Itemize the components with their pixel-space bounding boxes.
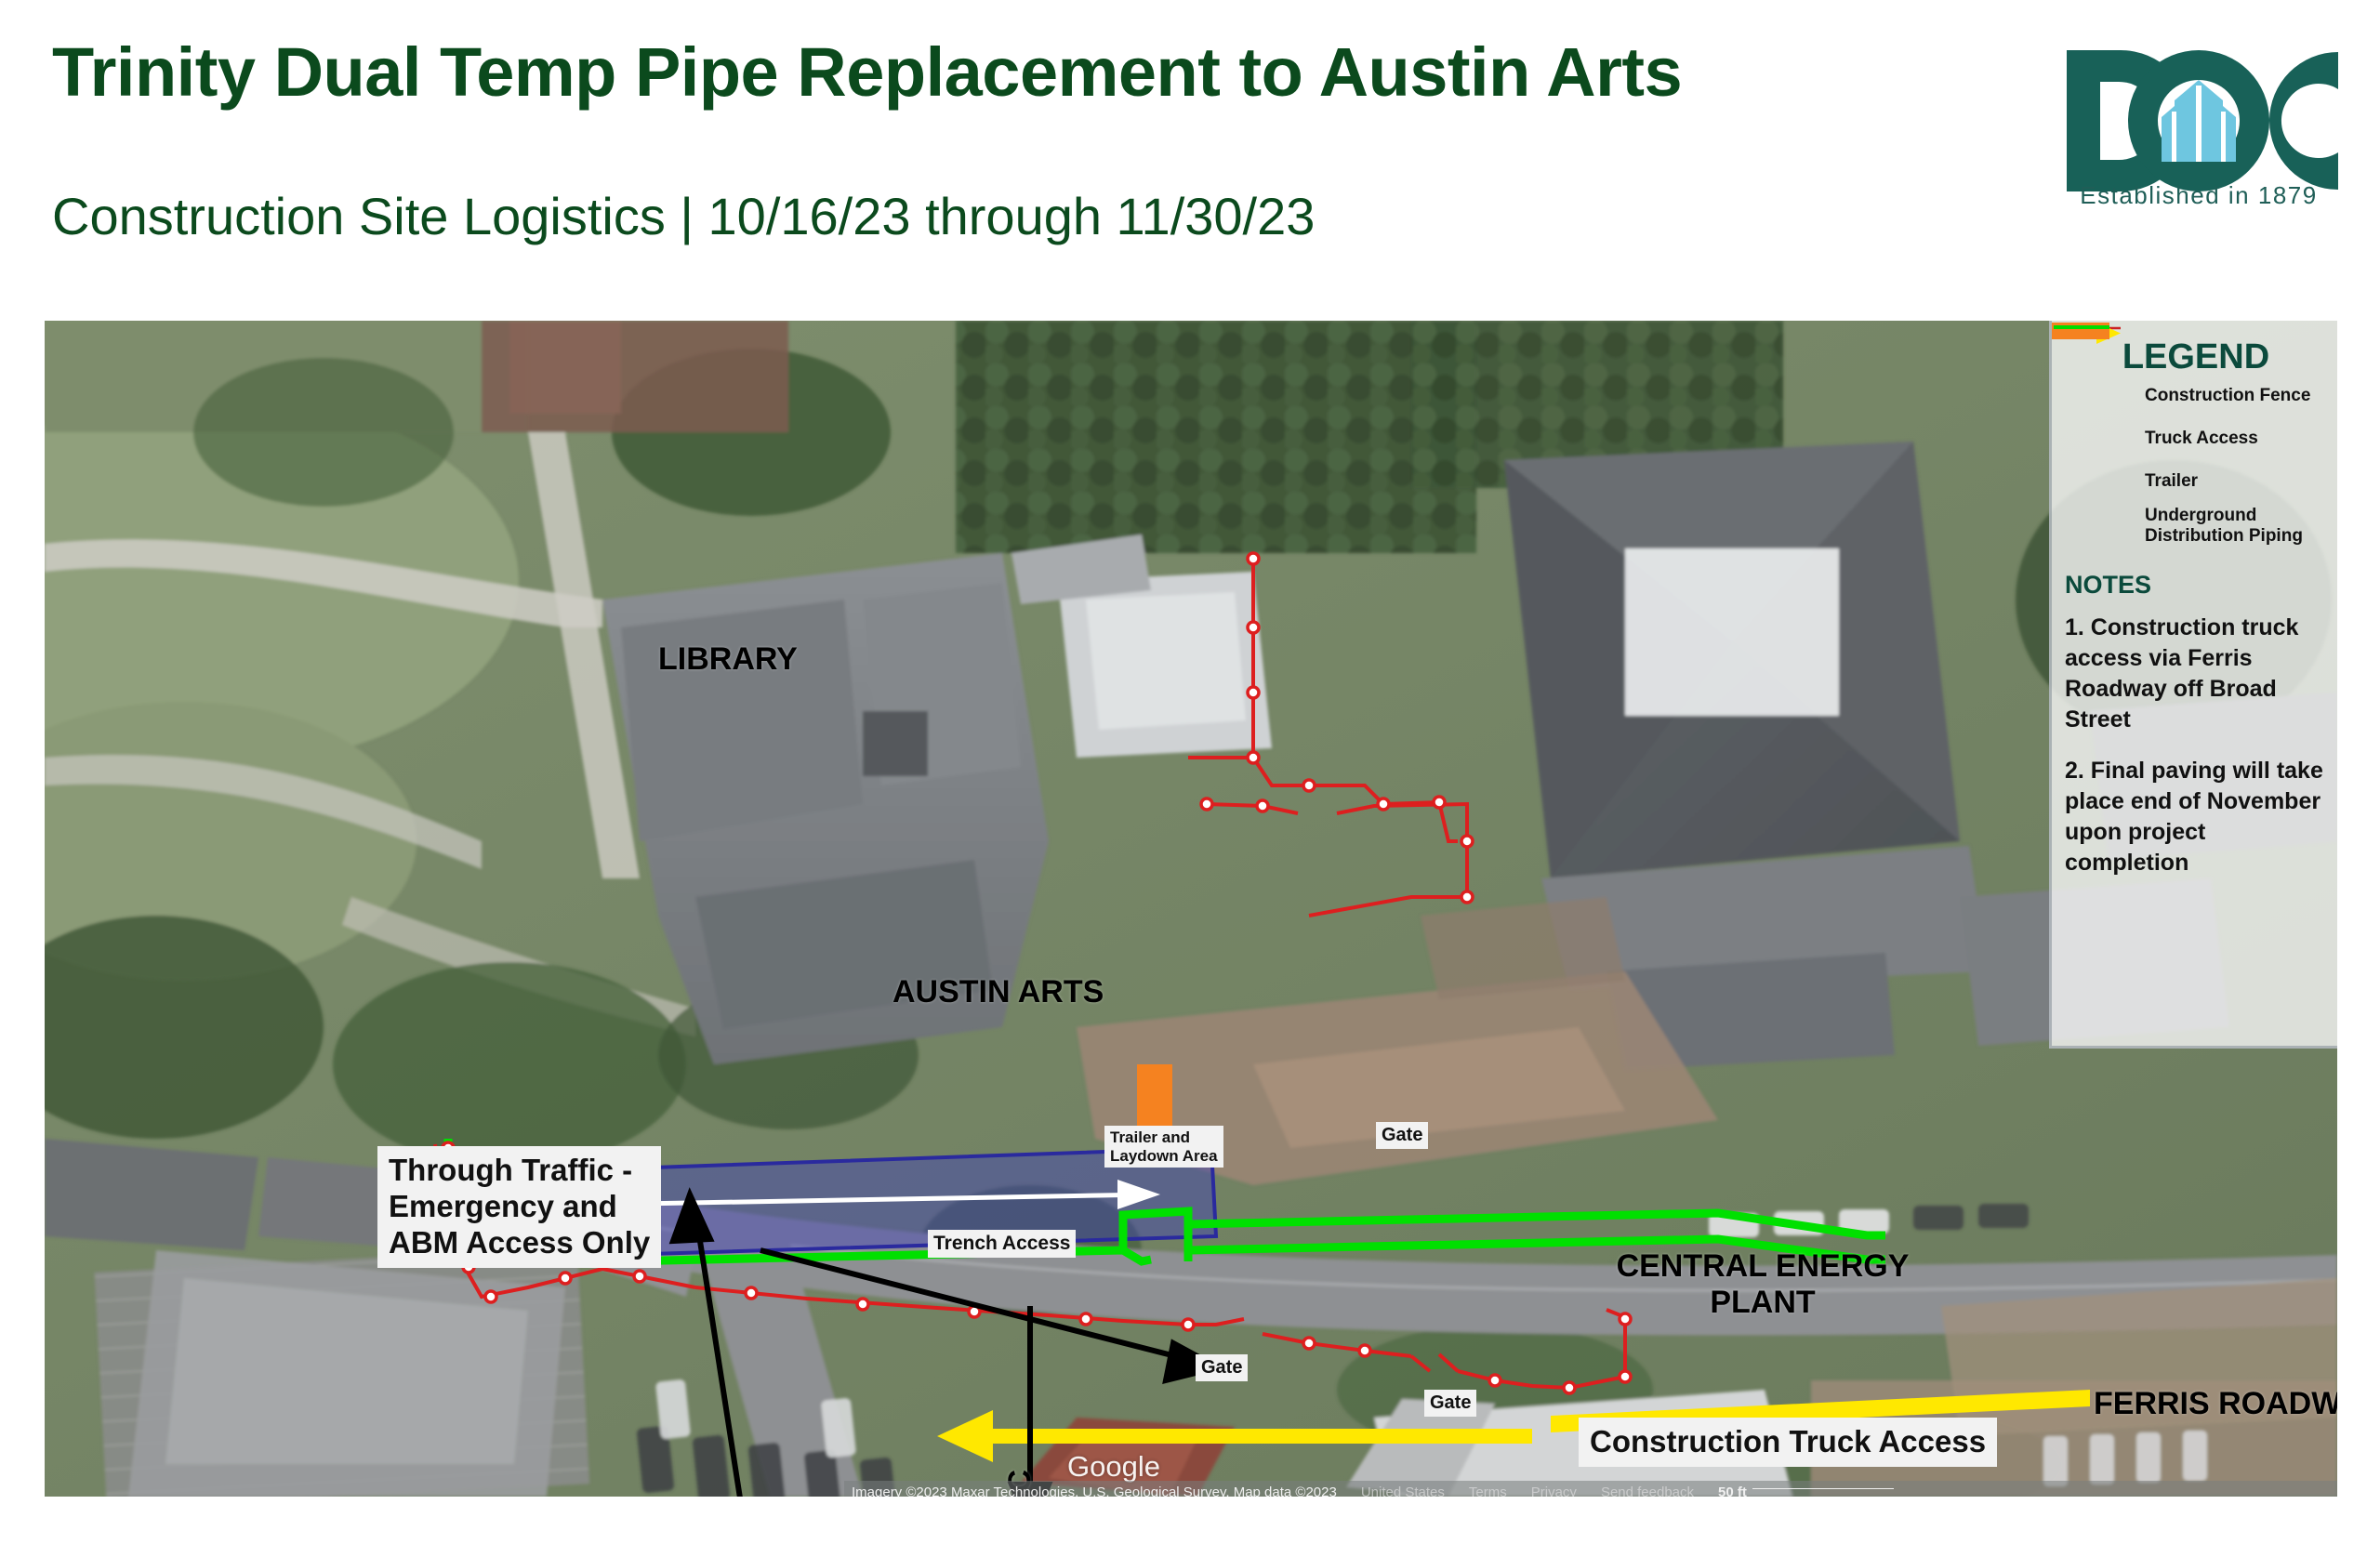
label-trench-access: Trench Access: [928, 1230, 1076, 1258]
doc-logo-mark: [2059, 37, 2338, 205]
attribution-link-send-feedback[interactable]: Send feedback: [1601, 1484, 1694, 1498]
scale-label: 50 ft: [1718, 1484, 1747, 1498]
page-header: Trinity Dual Temp Pipe Replacement to Au…: [0, 0, 2380, 321]
map-attribution-bar: Imagery ©2023 Maxar Technologies, U.S. G…: [844, 1481, 2337, 1497]
label-gate-north: Gate: [1376, 1122, 1428, 1149]
legend-item-construction-fence: Construction Fence: [2065, 377, 2337, 415]
legend-label-construction-fence: Construction Fence: [2145, 386, 2310, 406]
label-trailer-laydown-area: Trailer and Laydown Area: [1104, 1126, 1223, 1168]
legend-label-truck-access: Truck Access: [2145, 429, 2258, 449]
map-label-library: LIBRARY: [658, 641, 798, 678]
logo-established-text: Established in 1879: [2059, 181, 2338, 210]
callout-through-traffic: Through Traffic - Emergency and ABM Acce…: [377, 1146, 661, 1268]
site-map[interactable]: LIBRARY AUSTIN ARTS CENTRAL ENERGY PLANT…: [45, 321, 2337, 1497]
callout-construction-truck-access: Construction Truck Access: [1579, 1418, 1997, 1467]
legend-panel: LEGEND Construction Fence Truck Access: [2049, 321, 2337, 1049]
map-label-central-energy-plant: CENTRAL ENERGY PLANT: [1614, 1248, 1911, 1321]
legend-item-underground-piping: Underground Distribution Piping: [2065, 506, 2337, 547]
map-label-austin-arts: AUSTIN ARTS: [892, 974, 1104, 1010]
legend-item-truck-access: Truck Access: [2065, 420, 2337, 457]
scale-bar: [1752, 1488, 1894, 1489]
label-gate-east: Gate: [1424, 1390, 1476, 1417]
page-title: Trinity Dual Temp Pipe Replacement to Au…: [52, 33, 1682, 112]
legend-item-trailer: Trailer: [2065, 463, 2337, 500]
satellite-imagery: [45, 321, 2337, 1497]
notes-title: NOTES: [2065, 571, 2337, 600]
note-1: 1. Construction truck access via Ferris …: [2065, 613, 2327, 735]
attribution-link-united-states[interactable]: United States: [1361, 1484, 1445, 1498]
note-2: 2. Final paving will take place end of N…: [2065, 756, 2327, 878]
attribution-link-terms[interactable]: Terms: [1469, 1484, 1507, 1498]
doc-logo: [2059, 37, 2338, 205]
attribution-link-privacy[interactable]: Privacy: [1531, 1484, 1577, 1498]
legend-label-trailer: Trailer: [2145, 471, 2198, 492]
page-subtitle: Construction Site Logistics | 10/16/23 t…: [52, 186, 1315, 246]
map-label-ferris-roadway: FERRIS ROADWAY: [2094, 1386, 2337, 1422]
legend-label-underground-piping: Underground Distribution Piping: [2145, 506, 2312, 547]
google-watermark: Google: [1067, 1450, 1160, 1484]
attribution-imagery: Imagery ©2023 Maxar Technologies, U.S. G…: [852, 1484, 1337, 1498]
label-gate-west: Gate: [1196, 1354, 1248, 1381]
